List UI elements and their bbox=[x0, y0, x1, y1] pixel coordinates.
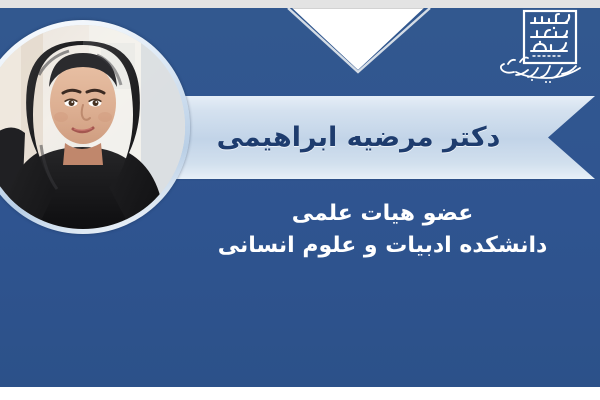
avatar-ring bbox=[0, 20, 190, 234]
faculty-role: عضو هیات علمی bbox=[190, 198, 575, 230]
faculty-announcement-card: دکتر مرضیه ابراهیمی عضو هیات علمی دانشکد… bbox=[0, 0, 600, 400]
shahid-beheshti-university-logo-icon bbox=[484, 6, 592, 92]
avatar bbox=[0, 20, 190, 234]
university-logo bbox=[484, 6, 592, 92]
portrait-photo bbox=[0, 25, 185, 229]
avatar-image-clip bbox=[0, 25, 185, 229]
faculty-name: دکتر مرضیه ابراهیمی bbox=[150, 96, 595, 179]
faculty-department: دانشکده ادبیات و علوم انسانی bbox=[190, 230, 575, 262]
bottom-white-margin bbox=[0, 387, 600, 400]
name-ribbon: دکتر مرضیه ابراهیمی bbox=[150, 96, 595, 179]
subtitle-block: عضو هیات علمی دانشکده ادبیات و علوم انسا… bbox=[190, 198, 575, 262]
